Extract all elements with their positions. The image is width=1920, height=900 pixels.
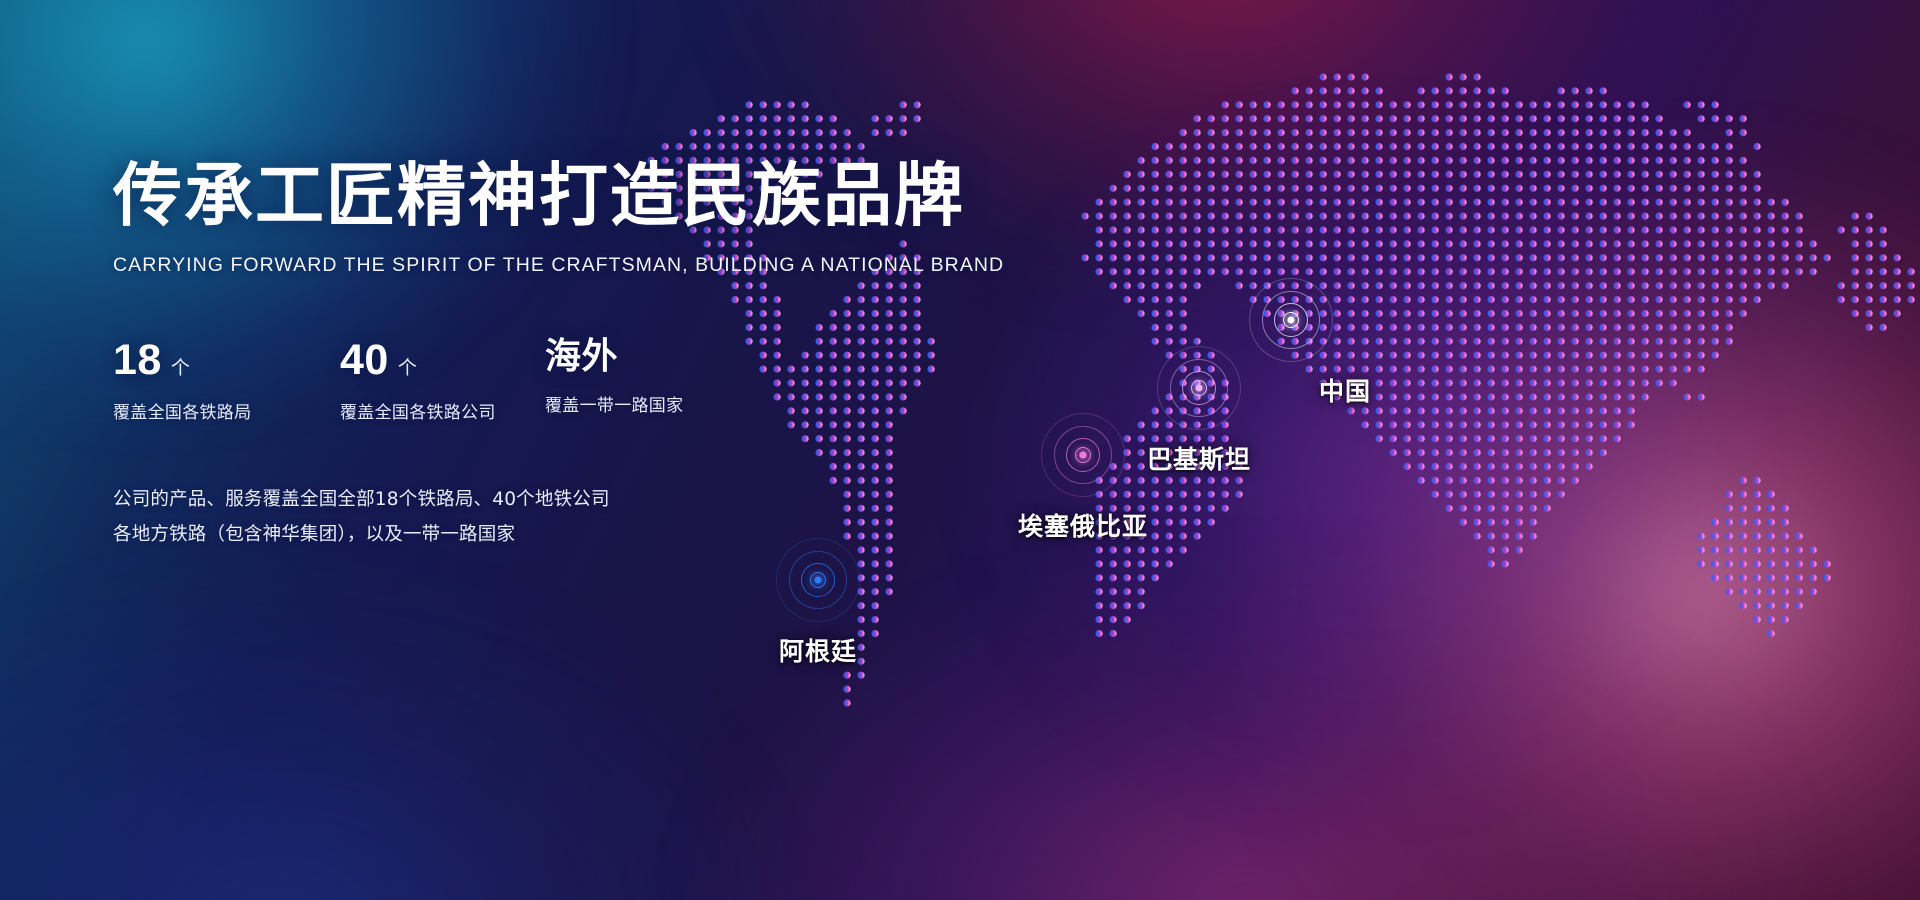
stat-value: 海外: [545, 339, 618, 375]
stat-item-2: 海外 覆盖一带一路国家: [545, 339, 683, 416]
marker-label: 巴基斯坦: [1147, 440, 1251, 476]
marker-core-dot: [1288, 317, 1295, 324]
paragraph-line-1: 公司的产品、服务覆盖全国全部18个铁路局、40个地铁公司: [113, 483, 973, 517]
stat-value-row: 40 个: [340, 339, 545, 382]
stat-item-0: 18 个 覆盖全国各铁路局: [113, 339, 340, 423]
stat-value-row: 海外: [545, 339, 683, 375]
stat-value: 18: [113, 339, 162, 382]
stat-item-1: 40 个 覆盖全国各铁路公司: [340, 339, 545, 423]
paragraph-line-2: 各地方铁路（包含神华集团），以及一带一路国家: [113, 518, 973, 552]
marker-label: 阿根廷: [779, 632, 857, 668]
page-subtitle: CARRYING FORWARD THE SPIRIT OF THE CRAFT…: [113, 254, 973, 277]
page-title: 传承工匠精神打造民族品牌: [113, 160, 973, 232]
marker-core-dot: [1196, 385, 1203, 392]
stat-value-row: 18 个: [113, 339, 340, 382]
marker-core-dot: [815, 577, 822, 584]
stat-description: 覆盖全国各铁路公司: [340, 398, 545, 423]
marker-core-dot: [1080, 452, 1087, 459]
description-paragraph: 公司的产品、服务覆盖全国全部18个铁路局、40个地铁公司 各地方铁路（包含神华集…: [113, 483, 973, 551]
stat-value: 40: [340, 339, 389, 382]
marker-label: 埃塞俄比亚: [1018, 507, 1148, 543]
stat-description: 覆盖一带一路国家: [545, 391, 683, 416]
stat-unit: 个: [171, 359, 190, 378]
stat-description: 覆盖全国各铁路局: [113, 398, 340, 423]
marker-label: 中国: [1319, 372, 1371, 408]
stats-row: 18 个 覆盖全国各铁路局 40 个 覆盖全国各铁路公司 海外 覆盖一带一路国家: [113, 339, 973, 423]
hero-banner: 中国巴基斯坦埃塞俄比亚阿根廷 传承工匠精神打造民族品牌 CARRYING FOR…: [0, 0, 1920, 900]
stat-unit: 个: [398, 359, 417, 378]
hero-content: 传承工匠精神打造民族品牌 CARRYING FORWARD THE SPIRIT…: [113, 160, 973, 552]
